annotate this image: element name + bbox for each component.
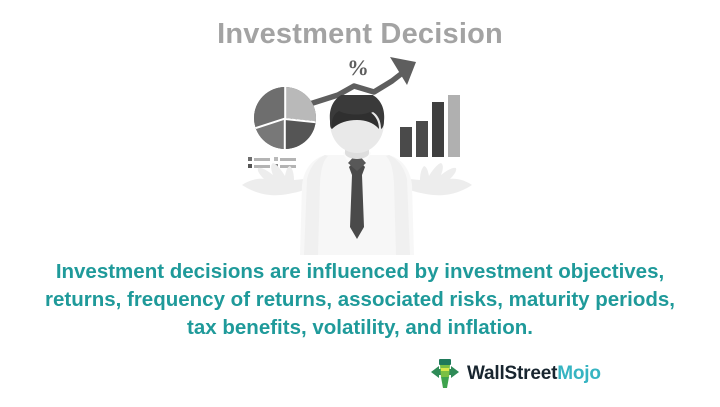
wallstreetmojo-logo[interactable]: WallStreetMojo: [430, 354, 601, 394]
logo-primary-text: WallStreet: [467, 363, 557, 384]
wallstreetmojo-mark-icon: [430, 357, 460, 391]
investment-decision-illustration: %: [232, 55, 482, 255]
logo-wordmark: WallStreetMojo: [467, 363, 601, 385]
page-title: Investment Decision: [0, 18, 720, 51]
infographic-canvas: Investment Decision %: [0, 0, 720, 407]
caption-text: Investment decisions are influenced by i…: [40, 258, 680, 342]
businessman-open-arms-icon: [240, 95, 474, 255]
logo-accent-text: Mojo: [557, 363, 601, 384]
